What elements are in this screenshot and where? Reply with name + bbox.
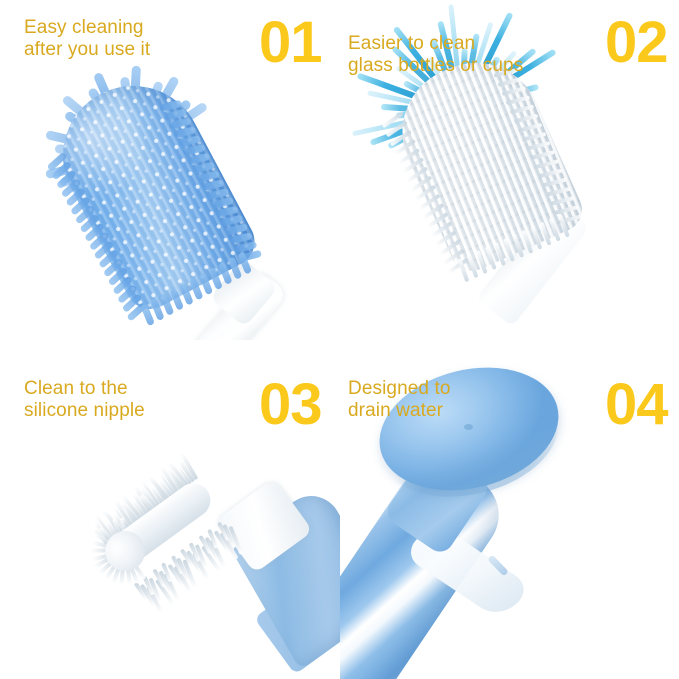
nipple-brush-assembly [104,436,334,676]
feature-number-03: 03 [259,376,322,434]
feature-number-02: 02 [605,14,668,72]
feature-caption-04: Designed to drain water [348,378,451,422]
feature-number-01: 01 [259,14,322,72]
brush-stem [87,468,264,643]
suction-cup-dimple [464,424,473,430]
feature-caption-02: Easier to clean glass bottles or cups [348,33,523,77]
infographic-root: Easy cleaning after you use it Easier to… [0,0,679,679]
feature-number-04: 04 [605,376,668,434]
feature-caption-01: Easy cleaning after you use it [24,17,150,61]
feature-caption-03: Clean to the silicone nipple [24,378,145,422]
